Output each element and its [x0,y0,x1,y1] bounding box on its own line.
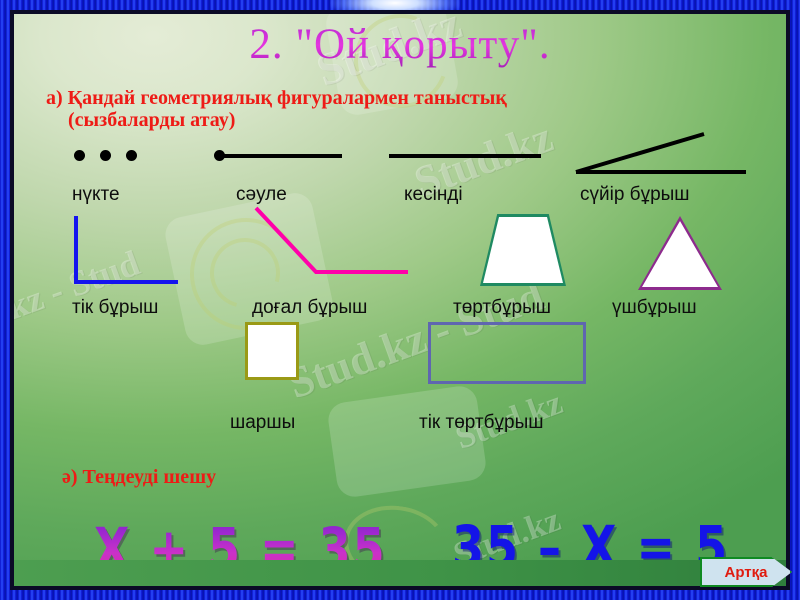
figure-label-saule: сәуле [236,184,287,206]
heading-part-a-line2: (сызбаларды атау) [46,109,746,131]
figure-kesindi-segment [389,154,544,160]
figure-label-kesindi: кесінді [404,184,463,206]
figure-ushburysh-triangle [638,216,728,294]
figure-dogal-burysh-obtuse-angle [212,206,412,292]
heading-part-a-line1: а) Қандай геометриялық фигуралармен таны… [46,87,507,109]
figure-label-sharshy: шаршы [230,412,295,434]
dot-icon [100,150,111,161]
presentation-slide: Stud.kz Stud.kz Stud.kz - Stud Stud.kz S… [0,0,800,600]
triangle-fill [642,221,718,287]
heading-part-a: а) Қандай геометриялық фигуралармен таны… [46,87,746,132]
slide-bottom-strip [14,560,786,586]
slide-title: 2. "Ой қорыту". [14,20,786,69]
figure-tortburysh-trapezoid [480,214,572,292]
figure-suyir-burysh-acute-angle [572,132,752,176]
dot-icon [126,150,137,161]
figure-saule-ray [214,150,344,166]
figure-nukte-three-dots [74,150,184,166]
figure-label-ushburysh: үшбұрыш [612,297,697,319]
back-button-label: Артқа [725,564,768,581]
equation-two: 35 – X = 5 [452,513,729,560]
heading-part-e: ә) Теңдеуді шешу [62,466,216,488]
equation-one: X + 5 = 35 [94,515,387,560]
segment-line [389,154,541,158]
figure-sharshy-square [245,322,299,380]
figure-tik-burysh-right-angle [70,212,182,292]
figure-label-tik-tortburysh: тік төртбұрыш [419,412,543,434]
figure-label-dogal-burysh: доғал бұрыш [252,297,367,319]
figure-tik-tortburysh-rectangle [428,322,586,384]
dot-icon [74,150,85,161]
figure-label-nukte: нүкте [72,184,120,206]
watermark-badge [326,384,488,499]
figure-label-suyir-burysh: сүйір бұрыш [580,184,690,206]
slide-canvas: Stud.kz Stud.kz Stud.kz - Stud Stud.kz S… [14,14,786,560]
figure-label-tik-burysh: тік бұрыш [72,297,158,319]
figure-label-tortburysh: төртбұрыш [453,297,551,319]
ray-line [222,154,342,158]
